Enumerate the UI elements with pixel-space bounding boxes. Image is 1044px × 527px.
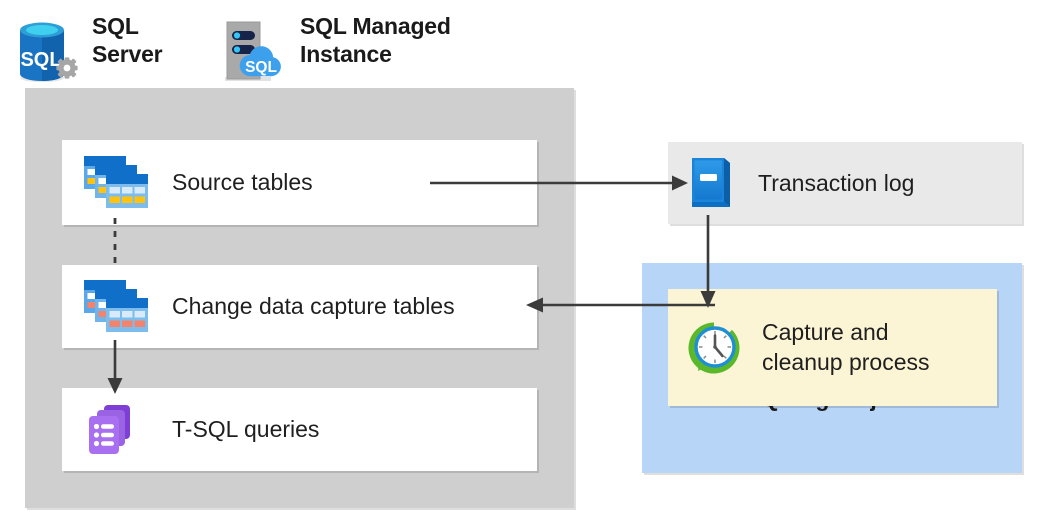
box-label: Capture and cleanup process — [762, 318, 930, 377]
connector-source-tables-to-transaction-log — [430, 150, 690, 230]
source-tables-icon — [80, 152, 152, 214]
svg-text:SQL: SQL — [245, 59, 277, 76]
connector-source-tables-to-cdc-tables — [95, 218, 135, 272]
diagram-canvas: SQL SQL Server — [0, 0, 1044, 527]
cdc-tables-icon — [80, 276, 152, 338]
connector-capture-to-cdc-tables — [525, 290, 715, 320]
sql-server-icon: SQL — [14, 14, 76, 84]
heading-label: SQL Server — [92, 12, 162, 68]
heading-label: SQL Managed Instance — [300, 12, 451, 68]
box-transaction-log[interactable]: Transaction log — [668, 142, 1022, 224]
heading-sql-managed-instance: SQL SQL Managed Instance — [218, 14, 451, 84]
heading-sql-server: SQL SQL Server — [14, 14, 162, 84]
transaction-log-icon — [686, 154, 738, 212]
clock-icon — [688, 322, 740, 374]
svg-text:SQL: SQL — [20, 49, 61, 71]
sql-managed-instance-icon: SQL — [218, 14, 284, 84]
box-label: Source tables — [172, 169, 313, 197]
box-label: Change data capture tables — [172, 293, 455, 321]
box-label: T-SQL queries — [172, 416, 319, 444]
tsql-queries-icon — [80, 399, 152, 461]
box-change-data-capture-tables[interactable]: Change data capture tables — [62, 265, 537, 348]
connector-cdc-tables-to-tsql-queries — [95, 340, 135, 396]
box-tsql-queries[interactable]: T-SQL queries — [62, 388, 537, 471]
box-label: Transaction log — [758, 170, 914, 197]
